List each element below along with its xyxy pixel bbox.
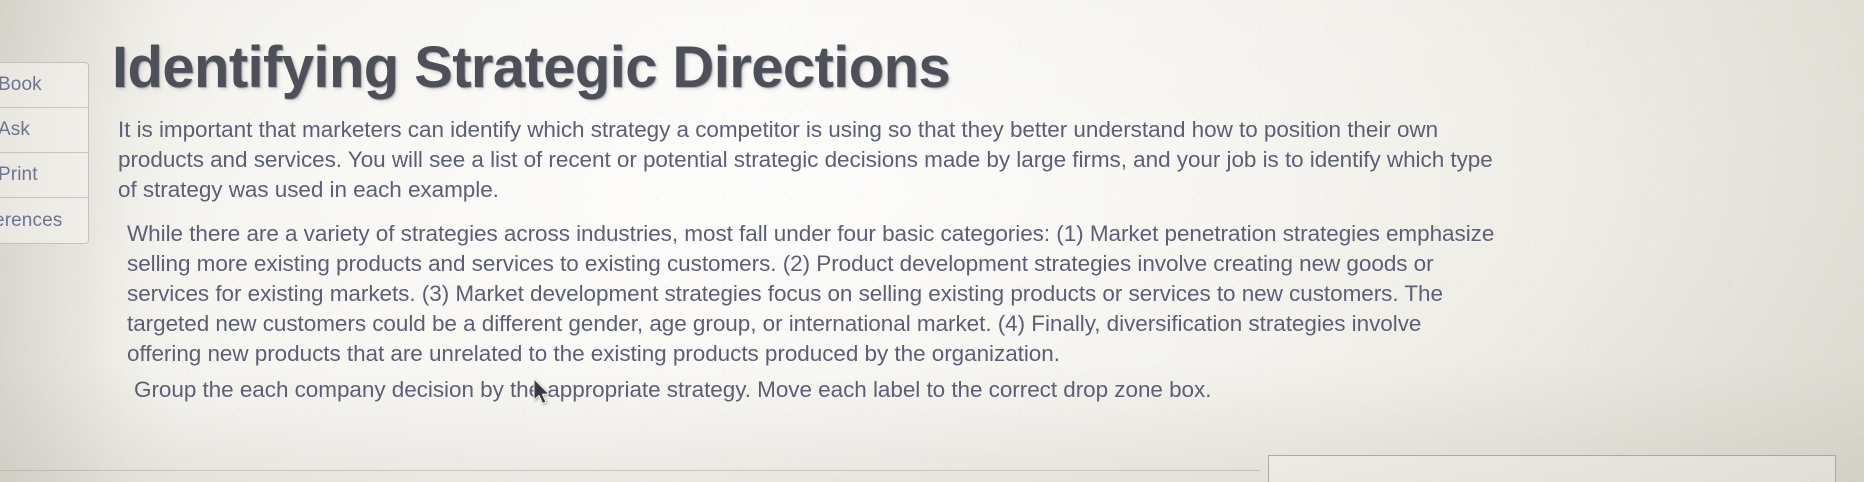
sidebar-item-ask[interactable]: Ask xyxy=(0,108,88,153)
instruction-paragraph: Group the each company decision by the a… xyxy=(134,375,1474,405)
sidebar-item-label: Ask xyxy=(0,119,30,141)
sidebar-item-print[interactable]: Print xyxy=(0,153,88,198)
sidebar-item-label: Book xyxy=(0,74,42,96)
screenshot-root: Book Ask Print eferences Identifying Str… xyxy=(0,0,1864,482)
sidebar-item-label: Print xyxy=(0,164,38,186)
drop-zone-panel[interactable] xyxy=(1268,455,1836,482)
sidebar-item-label: eferences xyxy=(0,210,62,232)
horizontal-rule xyxy=(0,470,1260,471)
sidebar-item-references[interactable]: eferences xyxy=(0,198,88,243)
categories-paragraph: While there are a variety of strategies … xyxy=(127,219,1497,369)
left-sidebar-menu[interactable]: Book Ask Print eferences xyxy=(0,62,89,244)
intro-paragraph: It is important that marketers can ident… xyxy=(118,115,1498,205)
page-title: Identifying Strategic Directions xyxy=(112,34,950,101)
sidebar-item-book[interactable]: Book xyxy=(0,63,88,108)
